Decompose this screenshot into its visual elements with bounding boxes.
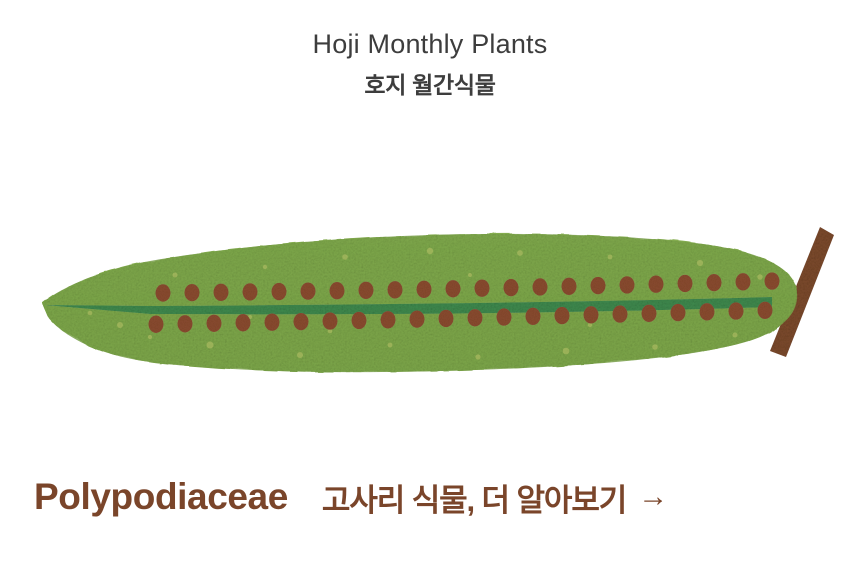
learn-more-link[interactable]: 고사리 식물, 더 알아보기 → xyxy=(322,475,667,520)
sorus-dot xyxy=(591,277,606,294)
sorus-dot xyxy=(207,315,222,332)
arrow-right-icon: → xyxy=(638,482,667,512)
sorus-dot xyxy=(729,302,744,319)
sorus-dot xyxy=(301,282,316,299)
sorus-dot xyxy=(642,305,657,322)
sorus-dot xyxy=(526,308,541,325)
sorus-dot xyxy=(439,310,454,327)
sorus-dot xyxy=(236,314,251,331)
plant-card: Hoji Monthly Plants 호지 월간식물 xyxy=(0,0,860,572)
sorus-dot xyxy=(736,273,751,290)
sorus-dot xyxy=(214,284,229,301)
page-title: Hoji Monthly Plants xyxy=(0,28,860,62)
sorus-dot xyxy=(417,281,432,298)
sorus-dot xyxy=(352,312,367,329)
fern-blade xyxy=(30,225,810,385)
sorus-dot xyxy=(758,302,773,319)
sorus-dot xyxy=(671,304,686,321)
sorus-dot xyxy=(584,306,599,323)
learn-more-label: 고사리 식물, 더 알아보기 xyxy=(322,475,626,520)
sorus-dot xyxy=(330,282,345,299)
sorus-dot xyxy=(388,281,403,298)
sorus-dot xyxy=(294,313,309,330)
sorus-dot xyxy=(700,303,715,320)
sorus-dot xyxy=(468,309,483,326)
sorus-dot xyxy=(497,308,512,325)
sorus-dot xyxy=(156,284,171,301)
sorus-dot xyxy=(359,282,374,299)
sorus-dot xyxy=(149,316,164,333)
plant-family-name: Polypodiaceae xyxy=(34,476,288,518)
sorus-dot xyxy=(265,314,280,331)
fern-frond-illustration xyxy=(0,205,860,405)
sorus-dot xyxy=(504,279,519,296)
sorus-dot xyxy=(533,278,548,295)
sorus-dot xyxy=(555,307,570,324)
sorus-dot xyxy=(178,315,193,332)
sorus-dot xyxy=(410,310,425,327)
page-subtitle: 호지 월간식물 xyxy=(0,71,860,101)
sorus-dot xyxy=(707,274,722,291)
sorus-dot xyxy=(243,283,258,300)
sorus-dot xyxy=(475,280,490,297)
sorus-dot xyxy=(323,312,338,329)
card-header: Hoji Monthly Plants 호지 월간식물 xyxy=(0,0,860,101)
sorus-dot xyxy=(613,305,628,322)
sorus-dot xyxy=(381,311,396,328)
sorus-dot xyxy=(649,275,664,292)
sorus-dot xyxy=(620,276,635,293)
sorus-dot xyxy=(185,284,200,301)
sorus-dot xyxy=(678,275,693,292)
sorus-dot xyxy=(562,278,577,295)
sorus-dot xyxy=(272,283,287,300)
sorus-dot xyxy=(446,280,461,297)
sorus-dot xyxy=(765,272,780,289)
card-footer: Polypodiaceae 고사리 식물, 더 알아보기 → xyxy=(0,462,860,532)
fern-frond-svg xyxy=(0,205,860,405)
